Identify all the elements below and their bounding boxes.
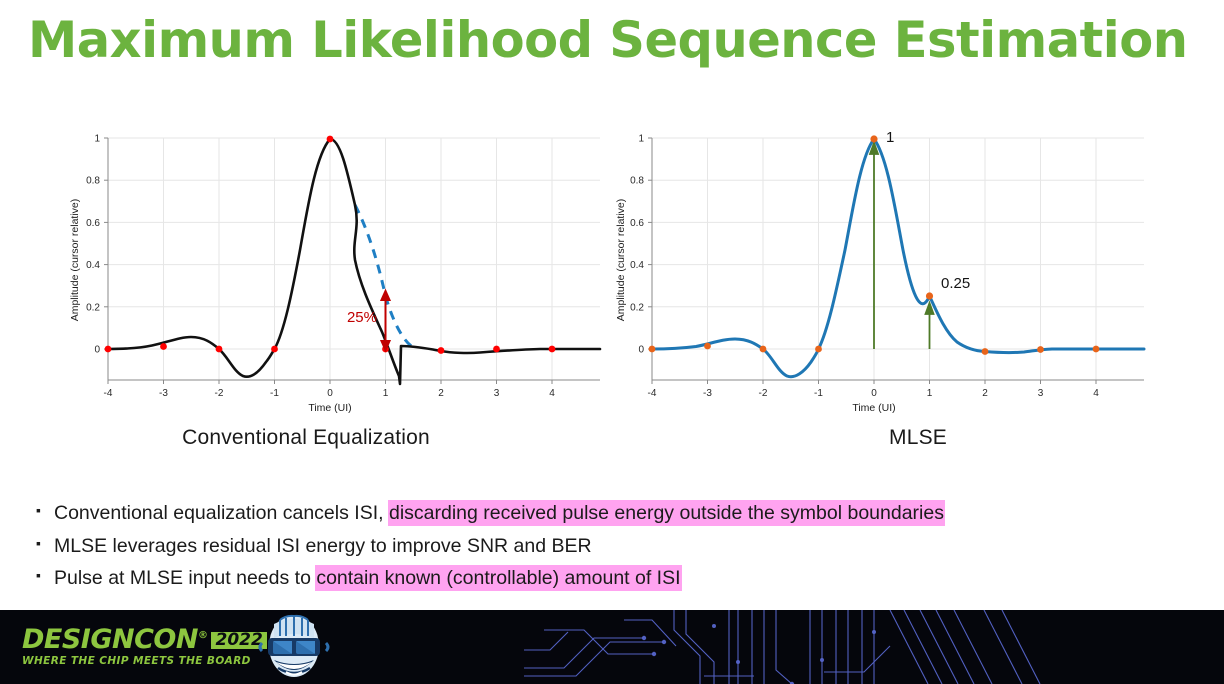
svg-text:-2: -2 <box>215 388 224 399</box>
mlse-pulse-curve <box>652 139 1144 377</box>
axis-spines <box>104 138 600 384</box>
bullet-text-plain: Pulse at MLSE input needs to <box>54 567 316 589</box>
svg-text:-3: -3 <box>703 388 712 399</box>
svg-text:0: 0 <box>638 345 644 356</box>
circuit-trace-decoration <box>524 610 1224 684</box>
slide-footer: DESIGNCON®2022 WHERE THE CHIP MEETS THE … <box>0 610 1224 684</box>
y-tick-labels: 1 0.8 0.6 0.4 0.2 0 <box>86 134 100 356</box>
figure-caption-mlse: MLSE <box>612 426 1224 450</box>
isi-25-percent-arrow <box>382 291 390 350</box>
svg-text:0: 0 <box>327 388 333 399</box>
bullet-item-1: ▪ Conventional equalization cancels ISI,… <box>36 500 1206 528</box>
bullet-list: ▪ Conventional equalization cancels ISI,… <box>36 500 1206 598</box>
bullet-highlight: contain known (controllable) amount of I… <box>316 566 680 590</box>
x-axis-label: Time (UI) <box>852 402 895 414</box>
figure-conventional-equalization: 1 0.8 0.6 0.4 0.2 0 -4 -3 -2 -1 0 1 <box>0 110 612 470</box>
svg-text:0.6: 0.6 <box>86 218 100 229</box>
svg-text:0: 0 <box>871 388 877 399</box>
svg-text:-4: -4 <box>104 388 113 399</box>
robot-mascot-icon <box>252 610 336 682</box>
figure-mlse: 1 0.8 0.6 0.4 0.2 0 -4 -3 -2 -1 0 1 <box>612 110 1224 470</box>
bullet-text-plain: MLSE leverages residual ISI energy to im… <box>54 535 592 557</box>
svg-text:0.8: 0.8 <box>86 176 100 187</box>
plot-conventional-equalization: 1 0.8 0.6 0.4 0.2 0 -4 -3 -2 -1 0 1 <box>0 110 612 420</box>
svg-text:1: 1 <box>638 134 644 145</box>
designcon-tagline: WHERE THE CHIP MEETS THE BOARD <box>22 655 232 667</box>
svg-text:0.4: 0.4 <box>86 260 100 271</box>
logo-con-text: CON <box>134 624 198 655</box>
y-axis-label: Amplitude (cursor relative) <box>69 199 81 322</box>
svg-text:3: 3 <box>494 388 500 399</box>
conventional-equalization-svg: 1 0.8 0.6 0.4 0.2 0 -4 -3 -2 -1 0 1 <box>0 110 612 420</box>
post-cursor-value-label: 0.25 <box>941 275 970 292</box>
y-axis-label: Amplitude (cursor relative) <box>615 199 627 322</box>
svg-text:2: 2 <box>438 388 444 399</box>
figures-row: 1 0.8 0.6 0.4 0.2 0 -4 -3 -2 -1 0 1 <box>0 110 1224 470</box>
svg-text:-1: -1 <box>814 388 823 399</box>
mlse-svg: 1 0.8 0.6 0.4 0.2 0 -4 -3 -2 -1 0 1 <box>612 110 1224 420</box>
bullet-marker-icon: ▪ <box>36 533 54 555</box>
equalized-pulse-curve <box>108 139 600 384</box>
bullet-marker-icon: ▪ <box>36 500 54 522</box>
axis-spines <box>648 138 1144 384</box>
designcon-wordmark: DESIGNCON®2022 <box>22 626 232 653</box>
bullet-text-3: Pulse at MLSE input needs to contain kno… <box>54 565 681 593</box>
figure-caption-conventional: Conventional Equalization <box>0 426 612 450</box>
main-cursor-value-label: 1 <box>886 129 894 146</box>
bullet-highlight: discarding received pulse energy outside… <box>389 501 944 525</box>
x-tick-labels: -4 -3 -2 -1 0 1 2 3 4 <box>104 388 556 399</box>
svg-text:-1: -1 <box>270 388 279 399</box>
svg-text:0.8: 0.8 <box>630 176 644 187</box>
svg-text:4: 4 <box>1093 388 1099 399</box>
svg-text:0.4: 0.4 <box>630 260 644 271</box>
x-tick-labels: -4 -3 -2 -1 0 1 2 3 4 <box>648 388 1100 399</box>
bullet-text-2: MLSE leverages residual ISI energy to im… <box>54 533 592 561</box>
svg-text:0.6: 0.6 <box>630 218 644 229</box>
bullet-item-2: ▪ MLSE leverages residual ISI energy to … <box>36 533 1206 561</box>
slide: Maximum Likelihood Sequence Estimation <box>0 0 1224 684</box>
svg-text:0.2: 0.2 <box>630 302 644 313</box>
svg-text:1: 1 <box>383 388 389 399</box>
svg-text:1: 1 <box>94 134 100 145</box>
y-tick-labels: 1 0.8 0.6 0.4 0.2 0 <box>630 134 644 356</box>
page-title: Maximum Likelihood Sequence Estimation <box>28 14 1196 67</box>
designcon-logo: DESIGNCON®2022 WHERE THE CHIP MEETS THE … <box>22 626 232 670</box>
svg-text:-2: -2 <box>759 388 768 399</box>
bullet-marker-icon: ▪ <box>36 565 54 587</box>
isi-25-percent-label: 25% <box>347 309 377 326</box>
svg-text:3: 3 <box>1038 388 1044 399</box>
bullet-text-1: Conventional equalization cancels ISI, d… <box>54 500 944 528</box>
svg-text:4: 4 <box>549 388 555 399</box>
gridlines <box>652 138 1144 380</box>
svg-text:1: 1 <box>927 388 933 399</box>
svg-text:0: 0 <box>94 345 100 356</box>
plot-mlse: 1 0.8 0.6 0.4 0.2 0 -4 -3 -2 -1 0 1 <box>612 110 1224 420</box>
svg-text:2: 2 <box>982 388 988 399</box>
registered-mark-icon: ® <box>198 630 208 641</box>
x-axis-label: Time (UI) <box>308 402 351 414</box>
bullet-item-3: ▪ Pulse at MLSE input needs to contain k… <box>36 565 1206 593</box>
bullet-text-plain: Conventional equalization cancels ISI, <box>54 502 389 524</box>
svg-text:0.2: 0.2 <box>86 302 100 313</box>
logo-design-text: DESIGN <box>22 624 134 655</box>
svg-text:-3: -3 <box>159 388 168 399</box>
svg-text:-4: -4 <box>648 388 657 399</box>
